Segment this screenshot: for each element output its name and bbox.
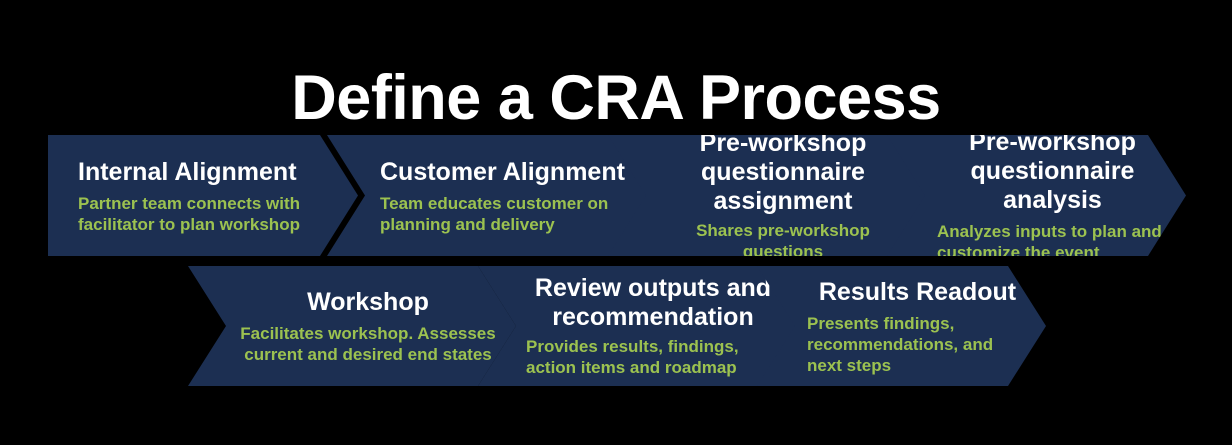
step-title: Pre-workshop questionnaire analysis — [937, 128, 1168, 215]
process-row-1: Internal Alignment Partner team connects… — [48, 135, 1186, 256]
process-step-results-readout[interactable]: Results Readout Presents findings, recom… — [757, 266, 1046, 386]
step-description: Team educates customer on planning and d… — [380, 193, 629, 235]
process-step-workshop[interactable]: Workshop Facilitates workshop. Assesses … — [188, 266, 516, 386]
process-diagram-canvas: Define a CRA Process Internal Alignment … — [0, 0, 1232, 445]
page-title: Define a CRA Process — [0, 60, 1232, 136]
step-title: Internal Alignment — [78, 157, 340, 187]
process-step-customer-alignment[interactable]: Customer Alignment Team educates custome… — [327, 135, 647, 256]
process-step-pre-workshop-questionnaire-assignment[interactable]: Pre-workshop questionnaire assignment Sh… — [608, 135, 928, 256]
step-description: Presents findings, recommendations, and … — [807, 313, 1028, 376]
step-title: Results Readout — [807, 277, 1028, 307]
step-description: Shares pre-workshop questions — [658, 220, 908, 262]
step-title: Customer Alignment — [380, 157, 629, 187]
process-step-pre-workshop-questionnaire-analysis[interactable]: Pre-workshop questionnaire analysis Anal… — [887, 135, 1186, 256]
process-step-internal-alignment[interactable]: Internal Alignment Partner team connects… — [48, 135, 358, 256]
step-description: Provides results, findings, action items… — [526, 336, 780, 378]
step-description: Partner team connects with facilitator t… — [78, 193, 340, 235]
step-title: Pre-workshop questionnaire assignment — [658, 129, 908, 216]
step-title: Workshop — [238, 287, 498, 317]
process-step-review-outputs-and-recommendation[interactable]: Review outputs and recommendation Provid… — [478, 266, 796, 386]
step-description: Analyzes inputs to plan and customize th… — [937, 221, 1168, 263]
step-title: Review outputs and recommendation — [526, 274, 780, 332]
process-row-2: Workshop Facilitates workshop. Assesses … — [188, 266, 1046, 386]
step-description: Facilitates workshop. Assesses current a… — [238, 323, 498, 365]
